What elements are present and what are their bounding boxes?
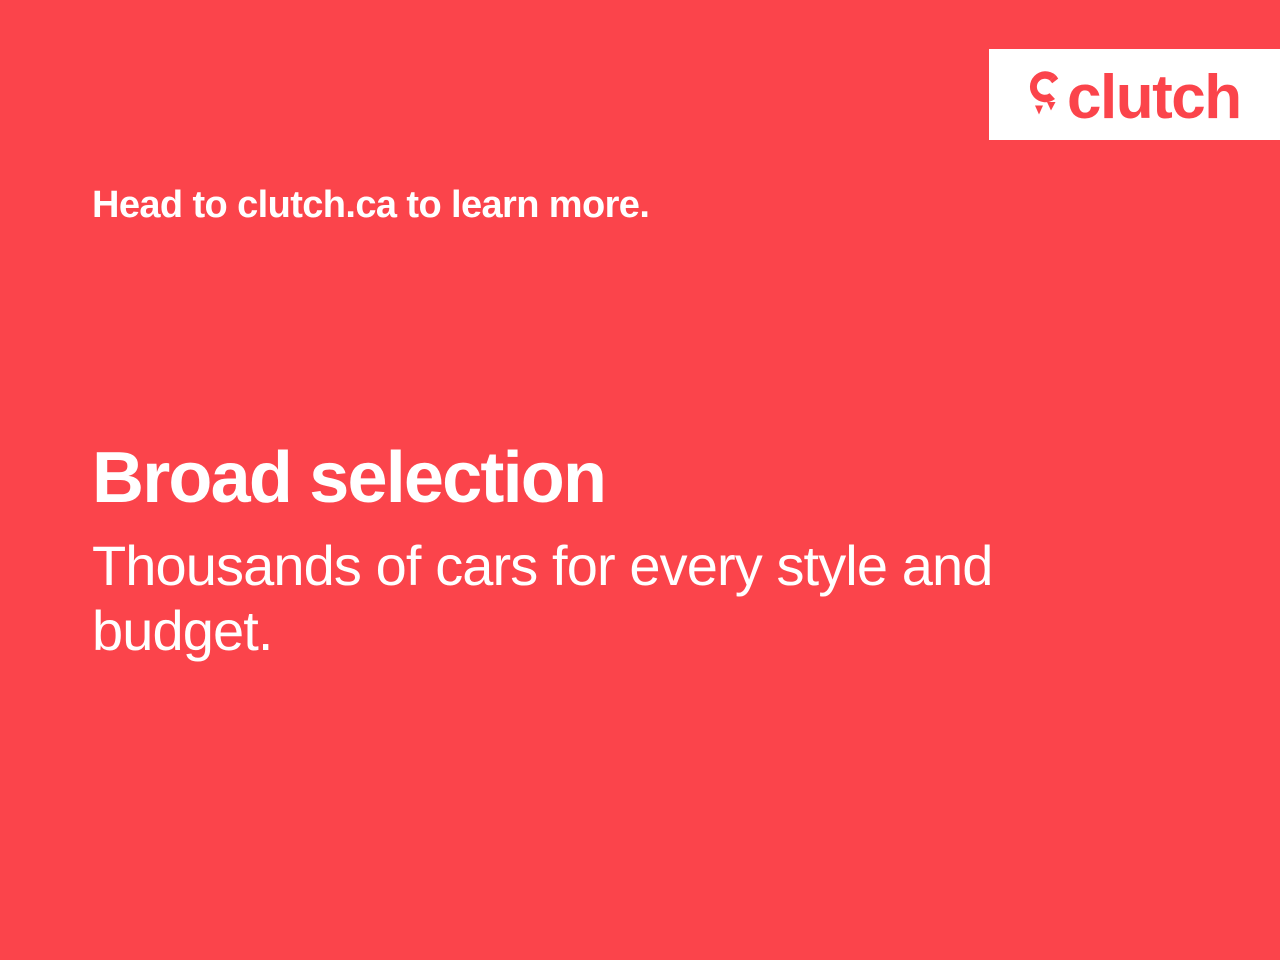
headline-text: Broad selection	[92, 438, 1092, 519]
brand-wordmark: clutch	[1067, 67, 1241, 129]
slide-canvas: clutch Head to clutch.ca to learn more. …	[0, 0, 1280, 960]
copy-block: Broad selection Thousands of cars for ev…	[92, 438, 1092, 664]
eyebrow-text: Head to clutch.ca to learn more.	[92, 182, 649, 230]
brand-logo-plate[interactable]: clutch	[989, 49, 1280, 140]
subheadline-text: Thousands of cars for every style and bu…	[92, 533, 1032, 664]
brand-logo-lockup: clutch	[1021, 61, 1241, 128]
clutch-c-mark-icon	[1021, 64, 1065, 120]
